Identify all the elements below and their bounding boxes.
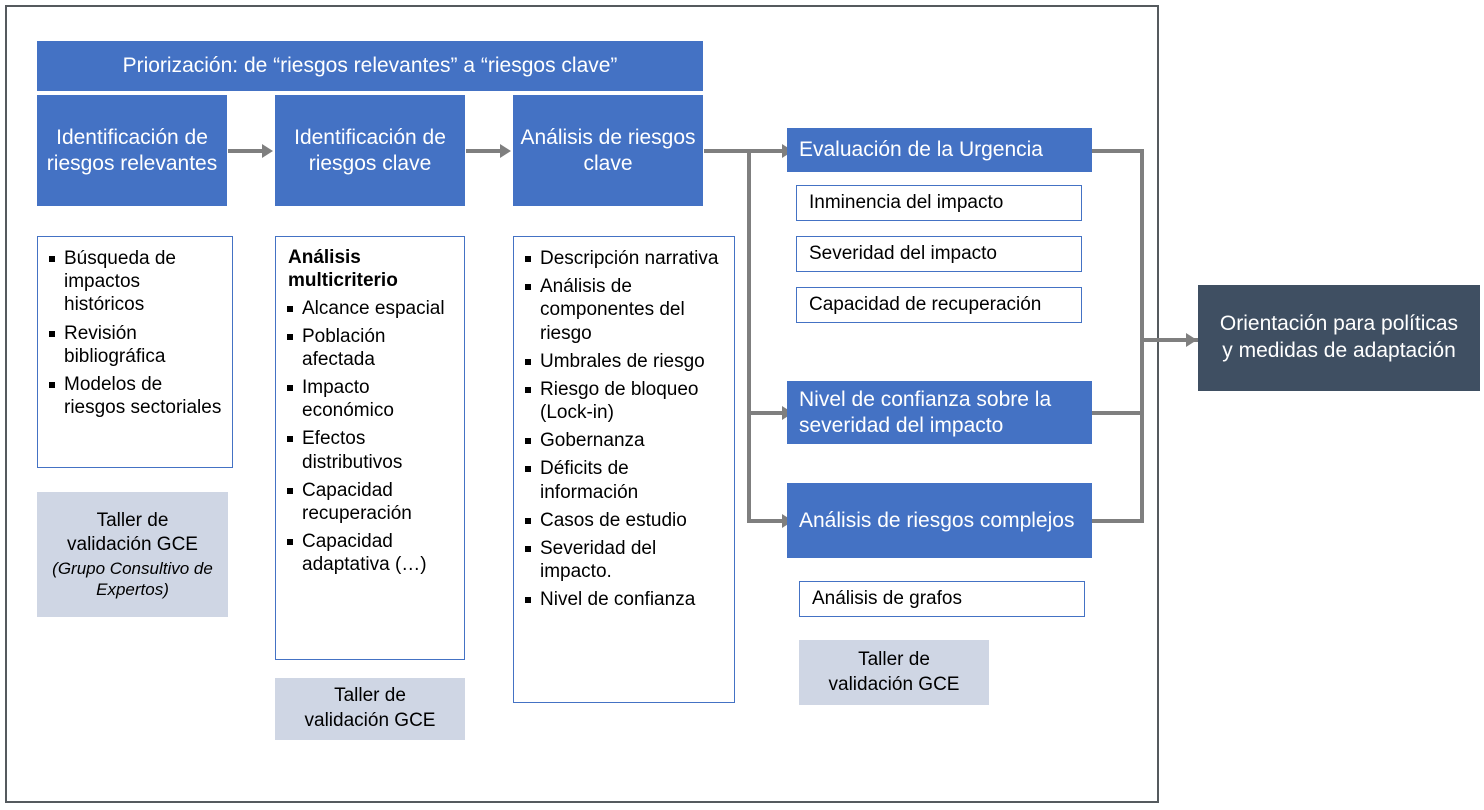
bullet-square-icon [525, 359, 531, 365]
list-item: Casos de estudio [524, 509, 726, 532]
bullet-square-icon [49, 382, 55, 388]
diagram-canvas: Priorización: de “riesgos relevantes” a … [0, 0, 1484, 810]
list-item-label: Severidad del impacto. [540, 538, 656, 582]
list-item: Población afectada [286, 325, 456, 371]
bullet-square-icon [287, 385, 293, 391]
list-item-label: Gobernanza [540, 430, 645, 451]
bullet-square-icon [525, 387, 531, 393]
connector-stage1-stage2 [228, 149, 264, 153]
workshop-line2: validación GCE [829, 673, 960, 698]
connector-stage3-trunk [704, 149, 751, 153]
list-item: Umbrales de riesgo [524, 350, 726, 373]
list-item: Revisión bibliográfica [48, 322, 224, 368]
complex-item-analisis-grafos[interactable]: Análisis de grafos [799, 581, 1085, 617]
complex-header-box[interactable]: Análisis de riesgos complejos [787, 483, 1092, 558]
list-item-label: Capacidad adaptativa (…) [302, 531, 427, 575]
panel-identificacion-riesgos-relevantes: Búsqueda de impactos históricos Revisión… [37, 236, 233, 468]
urgency-item-label: Capacidad de recuperación [809, 294, 1041, 316]
workshop-line1: Taller de [97, 509, 169, 534]
list-item-label: Riesgo de bloqueo (Lock-in) [540, 379, 698, 423]
bullet-square-icon [287, 539, 293, 545]
complex-item-label: Análisis de grafos [812, 588, 962, 610]
list-item-label: Impacto económico [302, 377, 394, 421]
list-item-label: Alcance espacial [302, 298, 445, 319]
stage-box-identificacion-riesgos-relevantes[interactable]: Identificación de riesgos relevantes [37, 95, 227, 206]
list-item: Efectos distributivos [286, 427, 456, 473]
bullet-square-icon [287, 306, 293, 312]
complex-header-label: Análisis de riesgos complejos [799, 508, 1074, 533]
bullet-square-icon [525, 284, 531, 290]
list-item: Modelos de riesgos sectoriales [48, 373, 224, 419]
workshop-line1: Taller de [334, 684, 406, 709]
workshop-line2: validación GCE [305, 709, 436, 734]
urgency-item-label: Inminencia del impacto [809, 192, 1003, 214]
workshop-box-column1: Taller de validación GCE (Grupo Consulti… [37, 492, 228, 617]
bullet-square-icon [287, 436, 293, 442]
list-item-label: Descripción narrativa [540, 248, 718, 269]
list-item-label: Casos de estudio [540, 510, 687, 531]
panel-list: Búsqueda de impactos históricos Revisión… [48, 247, 224, 419]
arrowhead-stage2-stage3-icon [500, 144, 511, 158]
list-item: Impacto económico [286, 376, 456, 422]
confidence-header-label: Nivel de confianza sobre la severidad de… [799, 387, 1092, 437]
stage-label: Análisis de riesgos clave [513, 125, 703, 175]
list-item-label: Análisis de componentes del riesgo [540, 276, 685, 343]
urgency-item-capacidad[interactable]: Capacidad de recuperación [796, 287, 1082, 323]
list-item: Gobernanza [524, 429, 726, 452]
confidence-header-box[interactable]: Nivel de confianza sobre la severidad de… [787, 381, 1092, 444]
connector-trunk-vertical [747, 149, 751, 523]
bullet-square-icon [525, 546, 531, 552]
stage-label: Identificación de riesgos clave [275, 125, 465, 175]
list-item-label: Modelos de riesgos sectoriales [64, 374, 221, 418]
connector-merge-vertical [1140, 149, 1144, 523]
list-item-label: Umbrales de riesgo [540, 351, 705, 372]
outcome-label: Orientación para políticas y medidas de … [1212, 311, 1466, 365]
list-item: Búsqueda de impactos históricos [48, 247, 224, 317]
urgency-item-inminencia[interactable]: Inminencia del impacto [796, 185, 1082, 221]
stage-box-identificacion-riesgos-clave[interactable]: Identificación de riesgos clave [275, 95, 465, 206]
urgency-header-label: Evaluación de la Urgencia [799, 137, 1043, 162]
urgency-header-box[interactable]: Evaluación de la Urgencia [787, 128, 1092, 172]
list-item: Severidad del impacto. [524, 537, 726, 583]
list-item: Riesgo de bloqueo (Lock-in) [524, 378, 726, 424]
workshop-note: (Grupo Consultivo de Expertos) [37, 558, 228, 601]
list-item-label: Búsqueda de impactos históricos [64, 248, 176, 315]
workshop-line2: validación GCE [67, 533, 198, 558]
list-item: Nivel de confianza [524, 588, 726, 611]
workshop-box-column4: Taller de validación GCE [799, 640, 989, 705]
outcome-box[interactable]: Orientación para políticas y medidas de … [1198, 285, 1480, 391]
workshop-box-column2: Taller de validación GCE [275, 678, 465, 740]
list-item: Alcance espacial [286, 297, 456, 320]
list-item: Déficits de información [524, 457, 726, 503]
connector-to-complex [747, 519, 787, 523]
bullet-square-icon [525, 466, 531, 472]
list-item-label: Población afectada [302, 326, 385, 370]
arrowhead-outcome-icon [1186, 333, 1197, 347]
bullet-square-icon [49, 256, 55, 262]
bullet-square-icon [525, 518, 531, 524]
title-banner: Priorización: de “riesgos relevantes” a … [37, 41, 703, 91]
connector-complex-merge [1092, 519, 1144, 523]
connector-urgency-merge [1092, 149, 1144, 153]
urgency-item-label: Severidad del impacto [809, 243, 997, 265]
bullet-square-icon [287, 488, 293, 494]
list-item: Descripción narrativa [524, 247, 726, 270]
bullet-square-icon [287, 334, 293, 340]
panel-analisis-riesgos-clave: Descripción narrativa Análisis de compon… [513, 236, 735, 703]
list-item: Capacidad adaptativa (…) [286, 530, 456, 576]
list-item-label: Revisión bibliográfica [64, 323, 165, 367]
list-item-label: Nivel de confianza [540, 589, 695, 610]
list-item: Análisis de componentes del riesgo [524, 275, 726, 345]
connector-confidence-merge [1092, 411, 1144, 415]
panel-analisis-multicriterio: Análisis multicriterio Alcance espacial … [275, 236, 465, 660]
stage-box-analisis-riesgos-clave[interactable]: Análisis de riesgos clave [513, 95, 703, 206]
list-item: Capacidad recuperación [286, 479, 456, 525]
list-item-label: Efectos distributivos [302, 428, 402, 472]
stage-label: Identificación de riesgos relevantes [37, 125, 227, 175]
title-banner-label: Priorización: de “riesgos relevantes” a … [123, 53, 618, 78]
connector-to-confidence [747, 411, 787, 415]
list-item-label: Capacidad recuperación [302, 480, 412, 524]
workshop-line1: Taller de [858, 648, 930, 673]
bullet-square-icon [525, 256, 531, 262]
connector-stage2-stage3 [466, 149, 502, 153]
connector-to-urgency [747, 149, 787, 153]
bullet-square-icon [525, 597, 531, 603]
arrowhead-stage1-stage2-icon [262, 144, 273, 158]
urgency-item-severidad[interactable]: Severidad del impacto [796, 236, 1082, 272]
list-item-label: Déficits de información [540, 458, 638, 502]
bullet-square-icon [525, 438, 531, 444]
bullet-square-icon [49, 331, 55, 337]
panel-list: Alcance espacial Población afectada Impa… [286, 297, 456, 577]
panel-list: Descripción narrativa Análisis de compon… [524, 247, 726, 611]
panel-heading: Análisis multicriterio [288, 247, 456, 293]
